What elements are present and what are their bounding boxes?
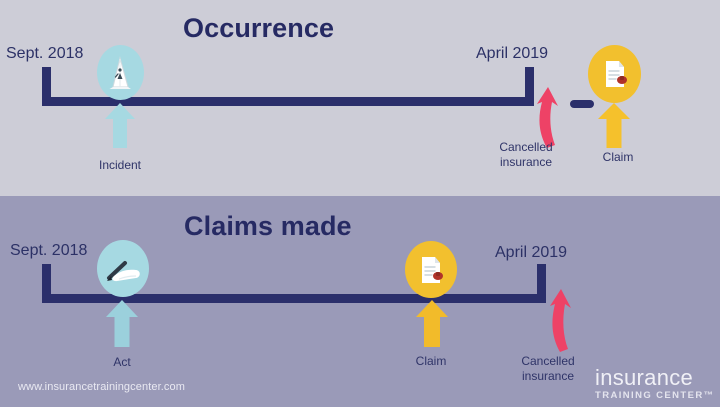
website-url: www.insurancetrainingcenter.com	[18, 381, 185, 393]
brand-logo-secondary: TRAINING CENTER™	[595, 390, 715, 401]
claim-label-bottom: Claim	[391, 354, 471, 369]
brand-logo: insurance TRAINING CENTER™	[595, 367, 715, 401]
incident-label: Incident	[70, 158, 170, 173]
cancelled-insurance-label-top: Cancelled insurance	[470, 140, 582, 170]
panel-occurrence-title: Occurrence	[183, 13, 334, 44]
occurrence-start-date: Sept. 2018	[6, 45, 83, 63]
infographic-canvas: Occurrence Sept. 2018 April 2019 Inciden…	[0, 0, 720, 407]
claims-made-end-date: April 2019	[495, 244, 567, 262]
occurrence-end-date: April 2019	[476, 45, 548, 63]
brand-logo-primary: insurance	[595, 367, 715, 389]
claim-up-arrow-icon-top	[598, 103, 630, 148]
incident-up-arrow-icon	[105, 103, 135, 148]
curved-red-arrow-icon-bottom	[540, 286, 584, 354]
cancelled-insurance-label-bottom: Cancelled insurance	[492, 354, 604, 384]
claims-made-timeline-start-tick	[42, 264, 51, 297]
occurrence-timeline-trailing-dash	[570, 100, 594, 108]
claims-made-start-date: Sept. 2018	[10, 242, 87, 260]
occurrence-timeline-start-tick	[42, 67, 51, 100]
claim-label-top: Claim	[578, 150, 658, 165]
panel-claims-made-title: Claims made	[184, 211, 352, 242]
document-stamp-icon-bottom	[405, 241, 457, 298]
hand-writing-icon	[97, 240, 149, 297]
document-stamp-icon	[588, 45, 641, 103]
caution-sign-icon	[97, 45, 144, 100]
claim-up-arrow-icon-bottom	[415, 300, 448, 347]
act-up-arrow-icon	[106, 300, 138, 347]
act-label: Act	[72, 355, 172, 370]
